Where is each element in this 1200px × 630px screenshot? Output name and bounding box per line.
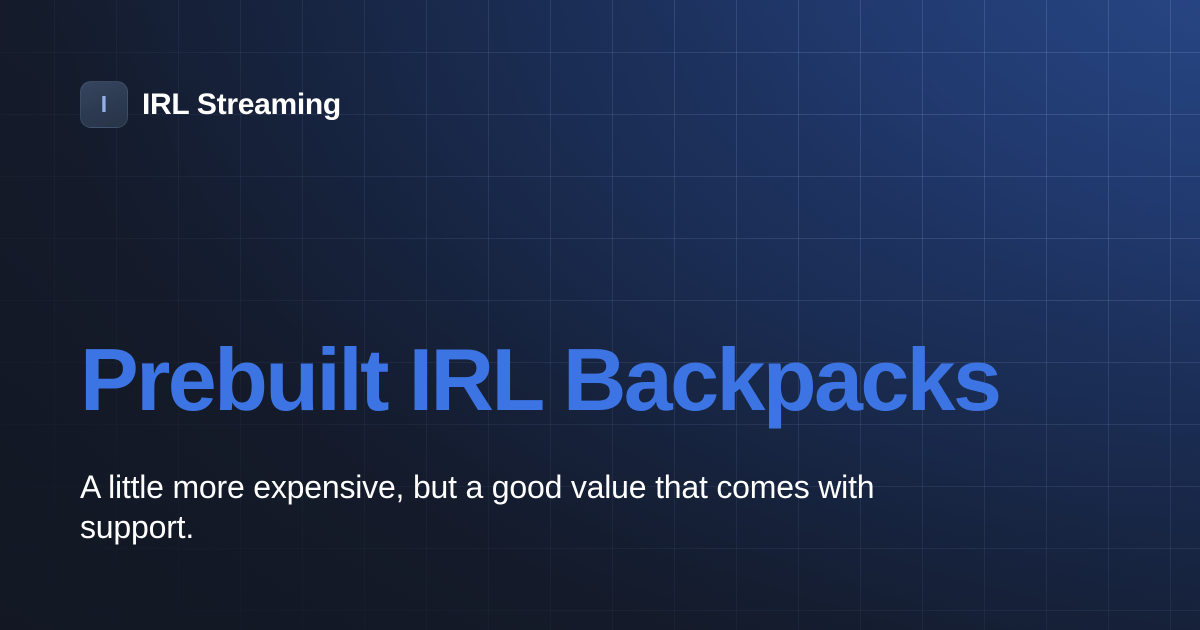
letter-i-badge-icon: I bbox=[80, 81, 128, 128]
page-subtitle: A little more expensive, but a good valu… bbox=[80, 467, 900, 547]
page-title: Prebuilt IRL Backpacks bbox=[80, 335, 999, 425]
og-card: I IRL Streaming Prebuilt IRL Backpacks A… bbox=[0, 0, 1200, 630]
brand-badge-letter: I bbox=[101, 93, 107, 116]
brand-lockup: I IRL Streaming bbox=[80, 81, 341, 128]
brand-name: IRL Streaming bbox=[142, 88, 341, 122]
